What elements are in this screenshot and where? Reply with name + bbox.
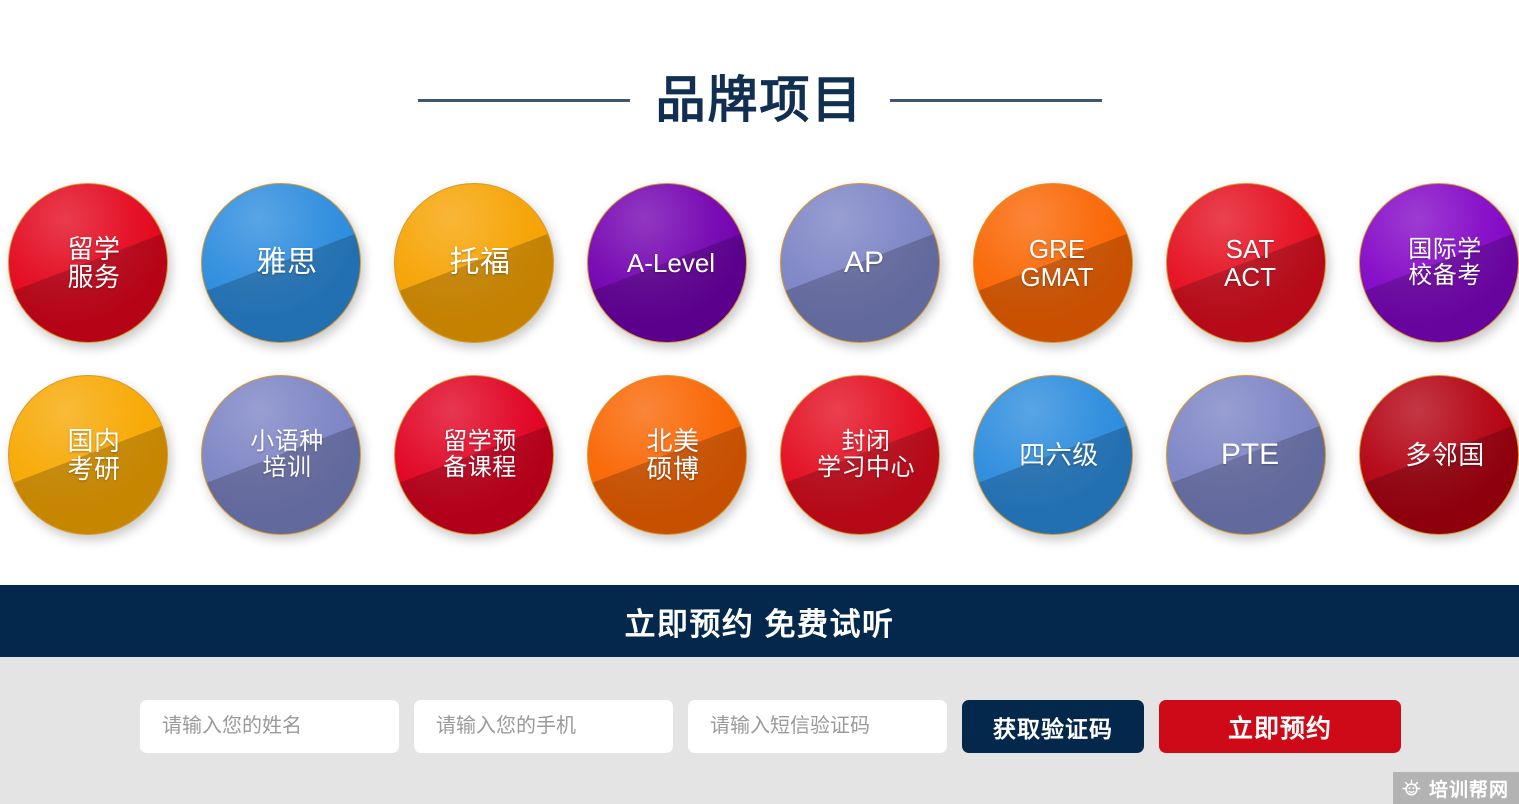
program-circle-guonei-kaoyan[interactable]: 国内 考研 — [8, 375, 168, 535]
program-label: 留学预 备课程 — [431, 429, 517, 481]
program-label: 多邻国 — [1393, 441, 1485, 469]
title-rule-left — [418, 99, 630, 102]
program-circle-liuxue-yubei-kecheng[interactable]: 留学预 备课程 — [394, 375, 554, 535]
name-input[interactable] — [140, 700, 399, 753]
section-header: 品牌项目 — [0, 62, 1519, 138]
program-grid: 留学 服务 雅思 托福 A-Level AP GRE GMAT SAT ACT … — [8, 183, 1519, 535]
program-circle-gre-gmat[interactable]: GRE GMAT — [973, 183, 1133, 343]
program-label: 封闭 学习中心 — [805, 429, 915, 481]
program-circle-xiaoyuzhong-peixun[interactable]: 小语种 培训 — [201, 375, 361, 535]
phone-input[interactable] — [414, 700, 673, 753]
program-circle-yasi[interactable]: 雅思 — [201, 183, 361, 343]
page-title: 品牌项目 — [656, 75, 864, 125]
watermark-text: 培训帮网 — [1429, 775, 1509, 802]
program-circle-duolinguo[interactable]: 多邻国 — [1359, 375, 1519, 535]
sms-code-input[interactable] — [688, 700, 947, 753]
program-label: GRE GMAT — [1012, 235, 1093, 291]
program-row-2: 国内 考研 小语种 培训 留学预 备课程 北美 硕博 封闭 学习中心 四六级 P… — [8, 375, 1519, 535]
submit-reservation-button[interactable]: 立即预约 — [1159, 700, 1401, 753]
cta-banner: 立即预约 免费试听 — [0, 585, 1519, 657]
program-label: A-Level — [619, 249, 715, 277]
program-label: 留学 服务 — [55, 235, 120, 291]
program-label: 雅思 — [245, 247, 318, 279]
program-label: 托福 — [438, 247, 511, 279]
sun-face-icon — [1401, 778, 1422, 799]
program-label: 北美 硕博 — [634, 427, 699, 483]
program-circle-sat-act[interactable]: SAT ACT — [1166, 183, 1326, 343]
program-circle-tuofu[interactable]: 托福 — [394, 183, 554, 343]
program-label: PTE — [1213, 439, 1279, 471]
brand-programs-page: 品牌项目 留学 服务 雅思 托福 A-Level AP GRE GMAT — [0, 0, 1519, 804]
signup-form: 获取验证码 立即预约 — [140, 700, 1401, 753]
program-circle-ap[interactable]: AP — [780, 183, 940, 343]
program-label: 小语种 培训 — [238, 429, 324, 481]
program-label: AP — [836, 247, 884, 279]
program-circle-liuxue-fuwu[interactable]: 留学 服务 — [8, 183, 168, 343]
program-label: 国内 考研 — [55, 427, 120, 483]
signup-form-area: 获取验证码 立即预约 — [0, 657, 1519, 804]
program-label: 四六级 — [1007, 441, 1099, 469]
program-circle-pte[interactable]: PTE — [1166, 375, 1326, 535]
cta-banner-title: 立即预约 免费试听 — [624, 599, 894, 644]
program-circle-siliuji[interactable]: 四六级 — [973, 375, 1133, 535]
get-verification-code-button[interactable]: 获取验证码 — [962, 700, 1144, 753]
program-row-1: 留学 服务 雅思 托福 A-Level AP GRE GMAT SAT ACT … — [8, 183, 1519, 343]
program-circle-a-level[interactable]: A-Level — [587, 183, 747, 343]
title-rule-right — [890, 99, 1102, 102]
program-circle-beimei-shuobo[interactable]: 北美 硕博 — [587, 375, 747, 535]
program-label: SAT ACT — [1216, 235, 1276, 291]
site-watermark: 培训帮网 — [1393, 772, 1519, 804]
program-label: 国际学 校备考 — [1396, 237, 1482, 289]
program-circle-fengbi-xuexi-zhongxin[interactable]: 封闭 学习中心 — [780, 375, 940, 535]
program-circle-guoji-xuexiao-beikao[interactable]: 国际学 校备考 — [1359, 183, 1519, 343]
